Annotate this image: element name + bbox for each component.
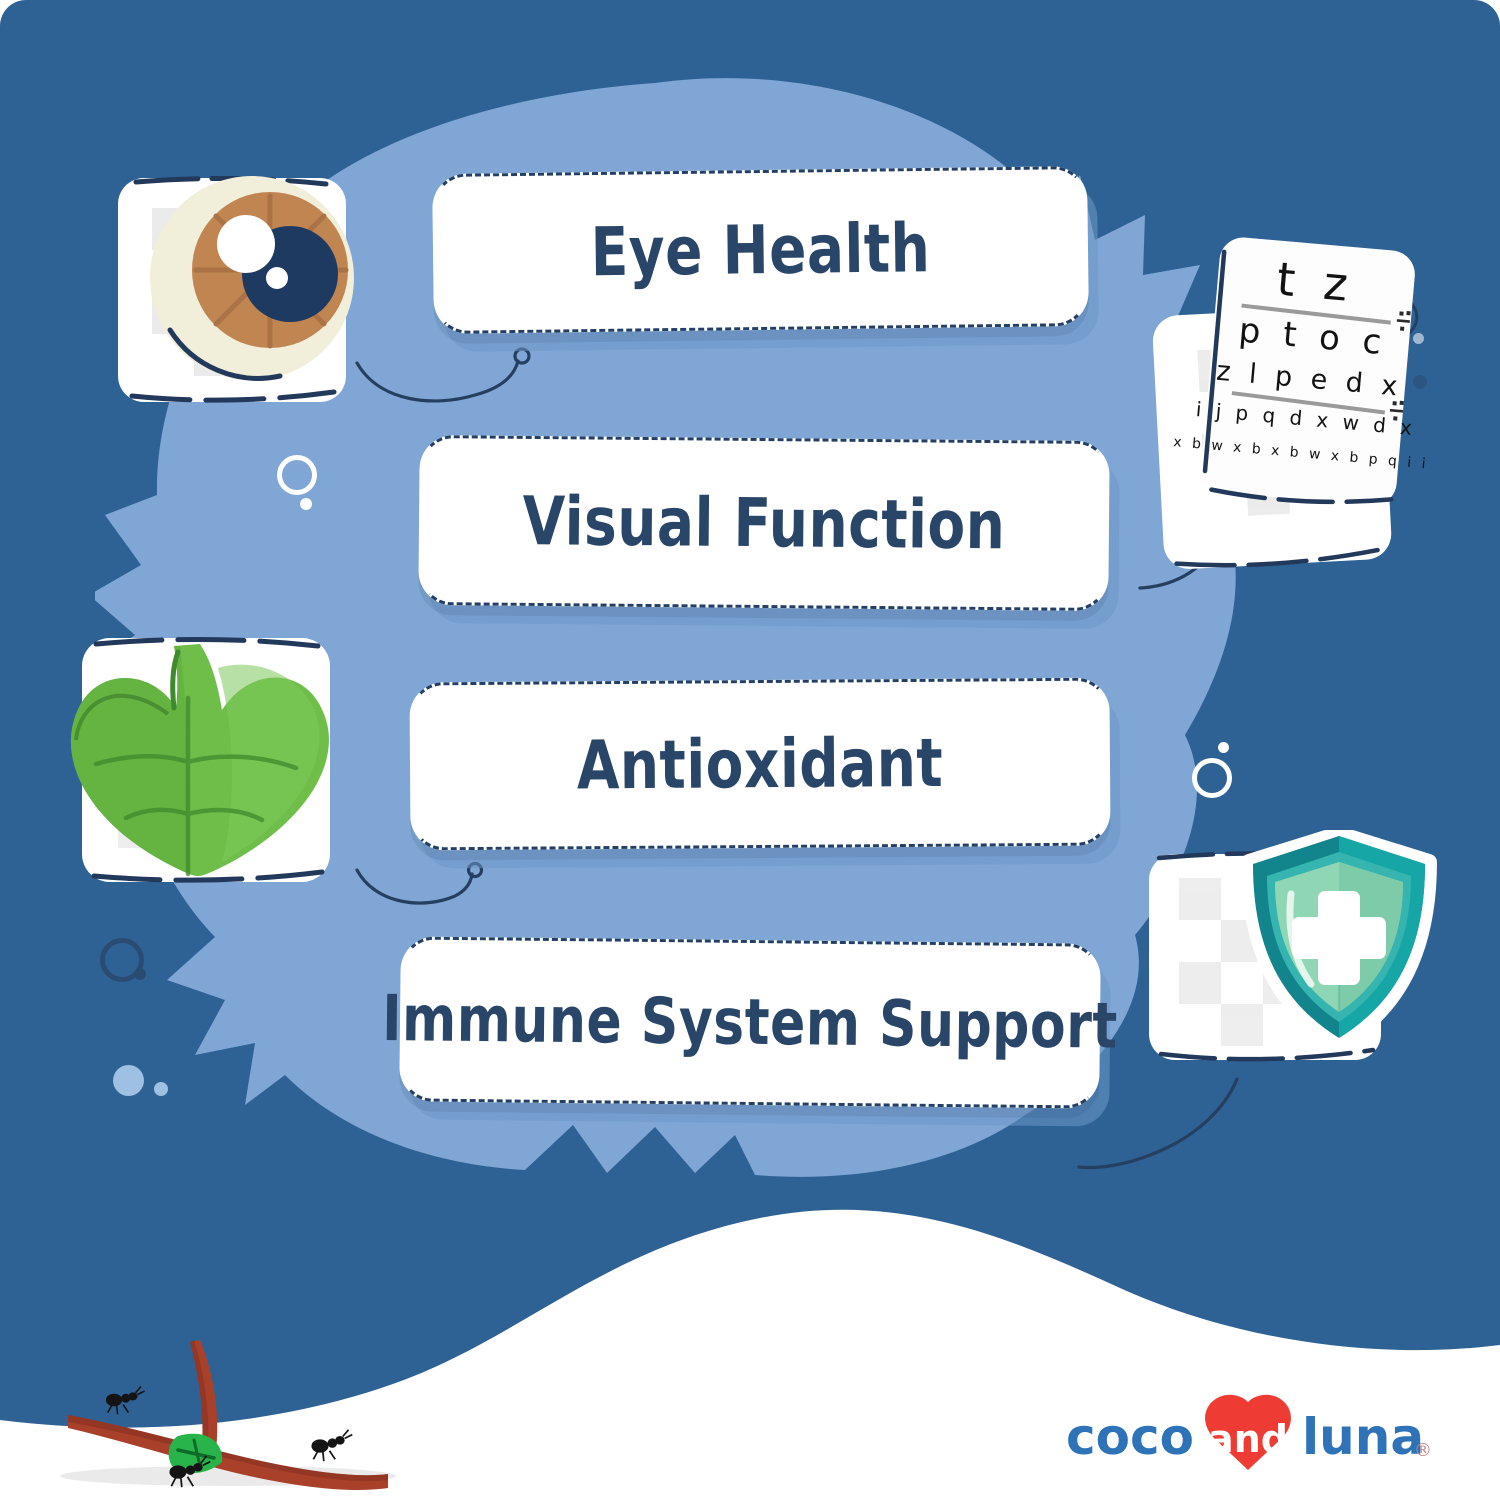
bubble-ring-2 <box>1192 758 1232 798</box>
benefit-label-visual-function: Visual Function <box>418 416 1110 629</box>
squiggle-connector-1 <box>355 345 545 405</box>
branch-with-ants-icon <box>28 1300 428 1497</box>
brand-logo[interactable]: coco and luna ® <box>1062 1398 1434 1470</box>
heart-leaf-icon <box>60 628 360 896</box>
logo-text-and: and <box>1208 1417 1288 1461</box>
bubble-fill-4 <box>113 1065 144 1096</box>
logo-text-coco: coco <box>1066 1408 1194 1466</box>
logo-text-luna: luna <box>1302 1408 1424 1466</box>
benefit-label-immune-system-support: Immune System Support <box>399 918 1101 1127</box>
bubble-dot-2 <box>1218 742 1229 753</box>
benefit-card-eye-health[interactable]: Eye Health <box>432 166 1089 334</box>
registered-mark: ® <box>1414 1440 1432 1461</box>
infographic-canvas: Eye Health Visual Function Antioxidant I… <box>0 0 1500 1497</box>
eyeball-icon <box>112 168 364 416</box>
eye-chart-icon: t z p t o c z l p e d x i j p q d x w d … <box>1150 235 1450 585</box>
benefit-card-antioxidant[interactable]: Antioxidant <box>409 678 1110 851</box>
bubble-fill-5 <box>154 1082 168 1096</box>
bubble-dot-1 <box>300 498 312 510</box>
bubble-dot-3 <box>134 968 146 980</box>
benefit-card-visual-function[interactable]: Visual Function <box>418 435 1109 611</box>
shield-cross-icon <box>1145 830 1450 1085</box>
bubble-ring-1 <box>277 455 317 495</box>
benefit-label-eye-health: Eye Health <box>432 148 1089 351</box>
benefit-label-antioxidant: Antioxidant <box>409 659 1110 869</box>
eye-chart-row-1: t z <box>1275 252 1357 313</box>
benefit-card-immune-system-support[interactable]: Immune System Support <box>399 936 1101 1108</box>
